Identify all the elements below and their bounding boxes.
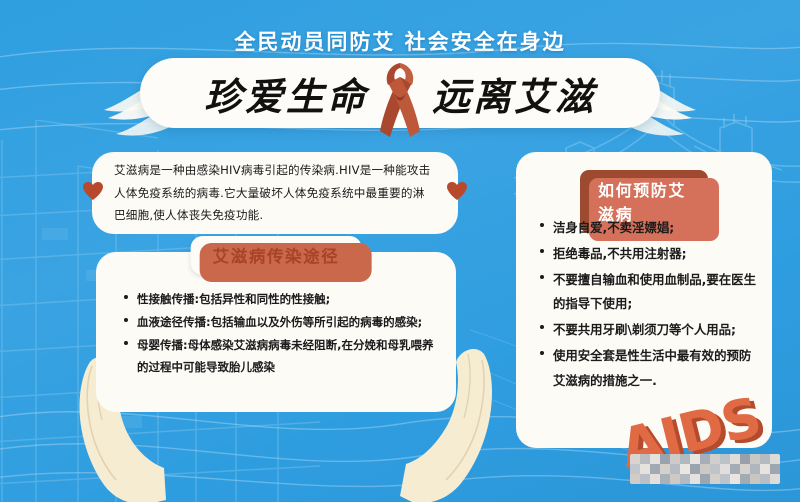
transmission-routes-heading: 艾滋病传染途径: [191, 236, 362, 275]
red-ribbon-icon: [374, 59, 426, 139]
awareness-poster: 全民动员同防艾 社会安全在身边 珍爱生命 远离: [0, 0, 800, 502]
list-item: 拒绝毒品,不共用注射器;: [538, 242, 756, 267]
main-title-banner: 珍爱生命 远离艾滋: [140, 58, 660, 128]
list-item: 不要擅自输血和使用血制品,要在医生的指导下使用;: [538, 268, 756, 318]
heading-text: 艾滋病传染途径: [213, 247, 340, 266]
title-text-left: 珍爱生命: [204, 66, 368, 121]
list-item: 不要共用牙刷\剃须刀等个人用品;: [538, 318, 756, 343]
title-text-right: 远离艾滋: [432, 66, 596, 121]
intro-text: 艾滋病是一种由感染HIV病毒引起的传染病.HIV是一种能攻击人体免疫系统的病毒.…: [92, 159, 458, 227]
list-item: 性接触传播:包括异性和同性的性接触;: [122, 288, 438, 310]
prevention-list: 洁身自爱,不卖淫嫖娼; 拒绝毒品,不共用注射器; 不要擅自输血和使用血制品,要在…: [538, 216, 756, 395]
list-item: 母婴传播:母体感染艾滋病病毒未经阻断,在分娩和母乳喂养的过程中可能导致胎儿感染: [122, 334, 438, 378]
heart-icon: [447, 182, 467, 201]
list-item: 洁身自爱,不卖淫嫖娼;: [538, 216, 756, 241]
intro-card: 艾滋病是一种由感染HIV病毒引起的传染病.HIV是一种能攻击人体免疫系统的病毒.…: [92, 152, 458, 234]
list-item: 血液途径传播:包括输血以及外伤等所引起的病毒的感染;: [122, 311, 438, 333]
heart-icon: [83, 182, 103, 201]
transmission-routes-card: 艾滋病传染途径 性接触传播:包括异性和同性的性接触; 血液途径传播:包括输血以及…: [96, 252, 456, 412]
transmission-routes-list: 性接触传播:包括异性和同性的性接触; 血液途径传播:包括输血以及外伤等所引起的病…: [122, 288, 438, 379]
mosaic-redaction: [630, 454, 780, 484]
